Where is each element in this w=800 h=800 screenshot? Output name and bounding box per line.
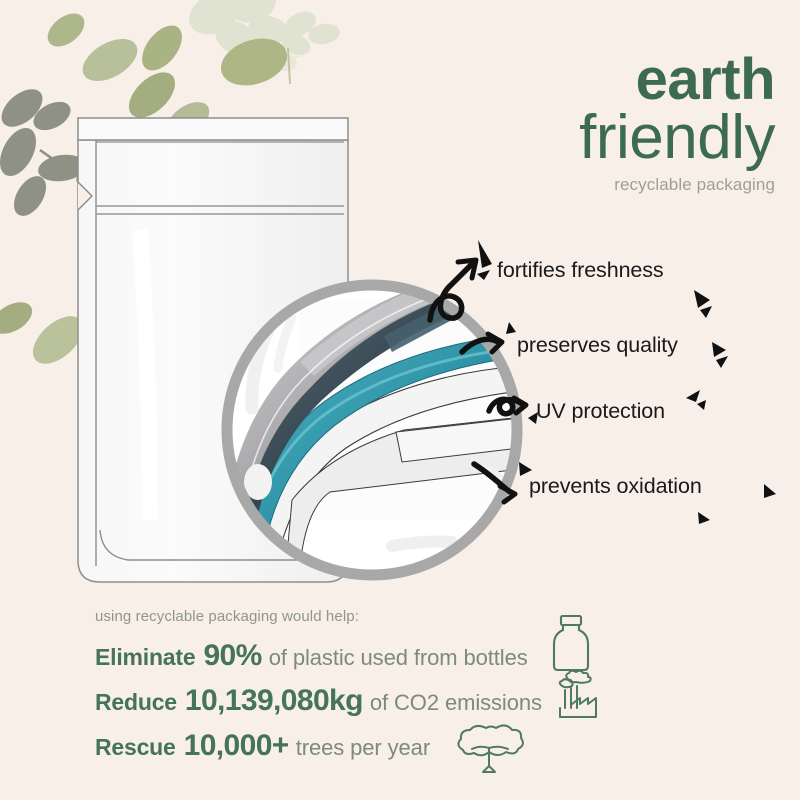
stat-verb: Reduce — [95, 689, 177, 716]
stat-value: 10,139,080kg — [185, 684, 363, 718]
feature-label-prevents-oxidation: prevents oxidation — [529, 474, 702, 499]
stat-tail: trees per year — [296, 735, 430, 761]
stat-value: 90% — [203, 639, 261, 673]
stat-row-reduce: Reduce 10,139,080kg of CO2 emissions — [95, 684, 755, 718]
stat-value: 10,000+ — [184, 729, 289, 763]
feature-label-preserves-quality: preserves quality — [517, 333, 678, 358]
stat-verb: Rescue — [95, 734, 176, 761]
stats-intro: using recyclable packaging would help: — [95, 608, 755, 625]
headline-line-2: friendly — [455, 107, 775, 169]
tree-icon — [456, 722, 530, 776]
infographic-canvas: earth friendly recyclable packaging fort… — [0, 0, 800, 800]
bottle-icon — [545, 612, 597, 674]
stat-row-rescue: Rescue 10,000+ trees per year — [95, 729, 755, 763]
stats-block: using recyclable packaging would help: E… — [95, 608, 755, 774]
stat-tail: of plastic used from bottles — [269, 645, 528, 671]
stat-verb: Eliminate — [95, 644, 195, 671]
stat-tail: of CO2 emissions — [370, 690, 542, 716]
page-title: earth friendly recyclable packaging — [455, 52, 775, 195]
feature-label-uv-protection: UV protection — [536, 399, 665, 424]
factory-icon — [556, 668, 600, 720]
stat-row-eliminate: Eliminate 90% of plastic used from bottl… — [95, 639, 755, 673]
headline-subtitle: recyclable packaging — [455, 175, 775, 195]
feature-label-fortifies-freshness: fortifies freshness — [497, 258, 664, 283]
headline-line-1: earth — [455, 52, 775, 109]
